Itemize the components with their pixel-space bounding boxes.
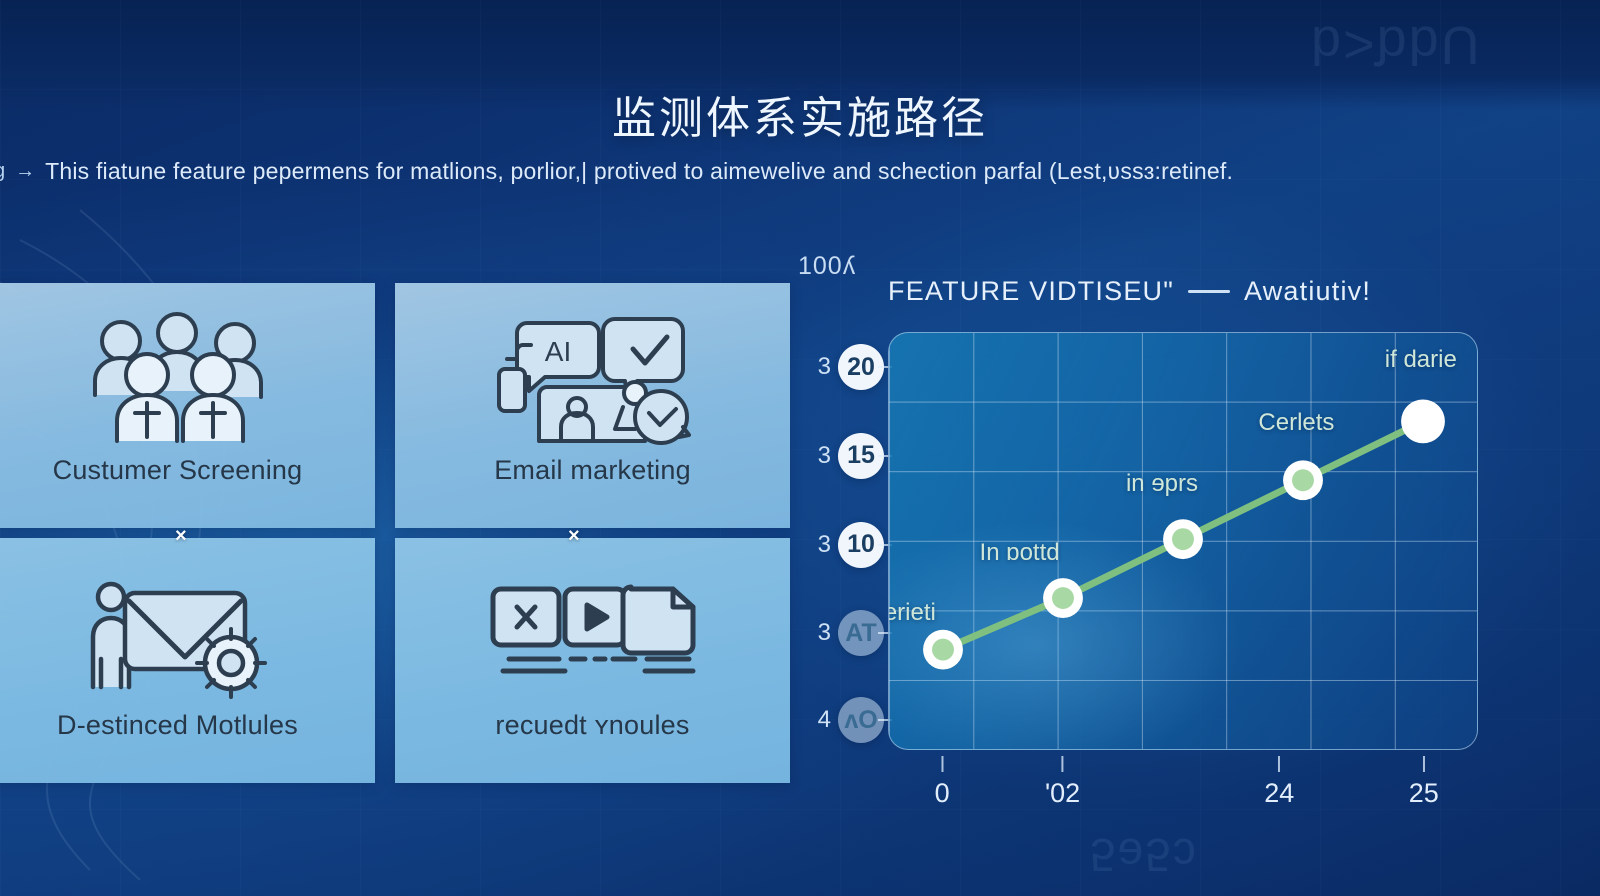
y-axis-tick: 315 [818, 433, 884, 479]
data-point[interactable] [1292, 469, 1314, 491]
card-label: recuedt ʏnoules [495, 710, 689, 741]
data-point-label: in ɘprs [1126, 470, 1198, 498]
x-axis: 0'022425 [888, 756, 1478, 816]
x-axis-tick-label: 24 [1264, 778, 1294, 809]
data-point[interactable] [932, 639, 954, 661]
chart-legend-title: FEATURE VIDTISEU" [888, 276, 1174, 307]
chart-corner-label: 100ʎ [798, 252, 856, 281]
x-axis-tick-mark [1278, 756, 1280, 772]
plot-area: CerietiIn ɒottdin ɘprsCerletsif darie [888, 332, 1478, 750]
card-email-marketing[interactable]: AI Email marketing [395, 283, 790, 528]
data-point-label: Cerieti [888, 599, 936, 627]
x-axis-tick: 0 [935, 756, 950, 809]
arrow-icon: → [15, 160, 35, 183]
series-line [889, 333, 1477, 749]
x-axis-tick-label: 25 [1409, 778, 1439, 809]
x-axis-tick: '02 [1045, 756, 1080, 809]
card-label: Custumer Screening [53, 455, 303, 486]
data-point[interactable] [1172, 528, 1194, 550]
background-watermark-text: Udɗ<d [1309, 14, 1480, 76]
y-axis-tick-badge: 15 [838, 433, 884, 479]
line-chart: 100ʎ FEATURE VIDTISEU"Awatiutiv! 3203153… [790, 240, 1530, 820]
y-axis-tick: 310 [818, 522, 884, 568]
feature-card-grid: Custumer Screening AI Email marketing [0, 283, 780, 793]
y-axis-tick: 320 [818, 344, 884, 390]
x-axis-tick-mark [1062, 756, 1064, 772]
subtitle-row: g → This fiatune feature pepermens for m… [0, 158, 1600, 185]
chart-legend-series-name: Awatiutiv! [1244, 276, 1371, 307]
people-group-icon [73, 309, 283, 449]
y-axis-tick-prefix: 3 [818, 619, 831, 647]
y-axis-tick-prefix: 3 [818, 442, 831, 470]
card-label: D-estinced Motlules [57, 710, 298, 741]
y-axis-tick-prefix: 4 [818, 706, 831, 734]
y-axis: 3203153103AT4ʌO [790, 332, 886, 750]
x-axis-tick-label: 0 [935, 778, 950, 809]
subtitle-text: This fiatune feature pepermens for matli… [45, 158, 1233, 185]
y-axis-tick-badge: 10 [838, 522, 884, 568]
y-axis-tick-badge: ʌO [838, 697, 884, 743]
chart-legend: FEATURE VIDTISEU"Awatiutiv! [888, 276, 1371, 307]
x-axis-tick: 24 [1264, 756, 1294, 809]
background-watermark-text-2: 5ә5ɔ [1090, 828, 1198, 882]
y-axis-tick: 4ʌO [818, 697, 884, 743]
y-axis-tick-badge: 20 [838, 344, 884, 390]
card-destinced-motlules[interactable]: D-estinced Motlules [0, 538, 375, 783]
svg-text:AI: AI [545, 336, 571, 367]
y-axis-tick: 3AT [818, 610, 884, 656]
y-axis-tick-prefix: 3 [818, 531, 831, 559]
x-axis-tick-mark [1423, 756, 1425, 772]
subtitle-prefix: g [0, 160, 5, 183]
card-label: Email marketing [494, 455, 691, 486]
media-controls-icon [485, 564, 700, 704]
data-point-label: if darie [1385, 346, 1457, 374]
legend-dash-icon [1188, 290, 1230, 293]
card-connector-cross-right: × [568, 525, 580, 548]
ai-chat-check-icon: AI [485, 309, 700, 449]
x-axis-tick-label: '02 [1045, 778, 1080, 809]
data-point[interactable] [1052, 587, 1074, 609]
data-point-label: In ɒottd [980, 539, 1060, 567]
page-title: 监测体系实施路径 [0, 82, 1600, 146]
card-recuedt-ynoules[interactable]: recuedt ʏnoules [395, 538, 790, 783]
card-connector-cross-left: × [175, 525, 187, 548]
person-mail-gear-icon [73, 564, 283, 704]
y-axis-tick-prefix: 3 [818, 353, 831, 381]
data-point[interactable] [1408, 406, 1438, 436]
x-axis-tick: 25 [1409, 756, 1439, 809]
data-point-label: Cerlets [1258, 409, 1334, 437]
x-axis-tick-mark [941, 756, 943, 772]
y-axis-tick-badge: AT [838, 610, 884, 656]
card-customer-screening[interactable]: Custumer Screening [0, 283, 375, 528]
